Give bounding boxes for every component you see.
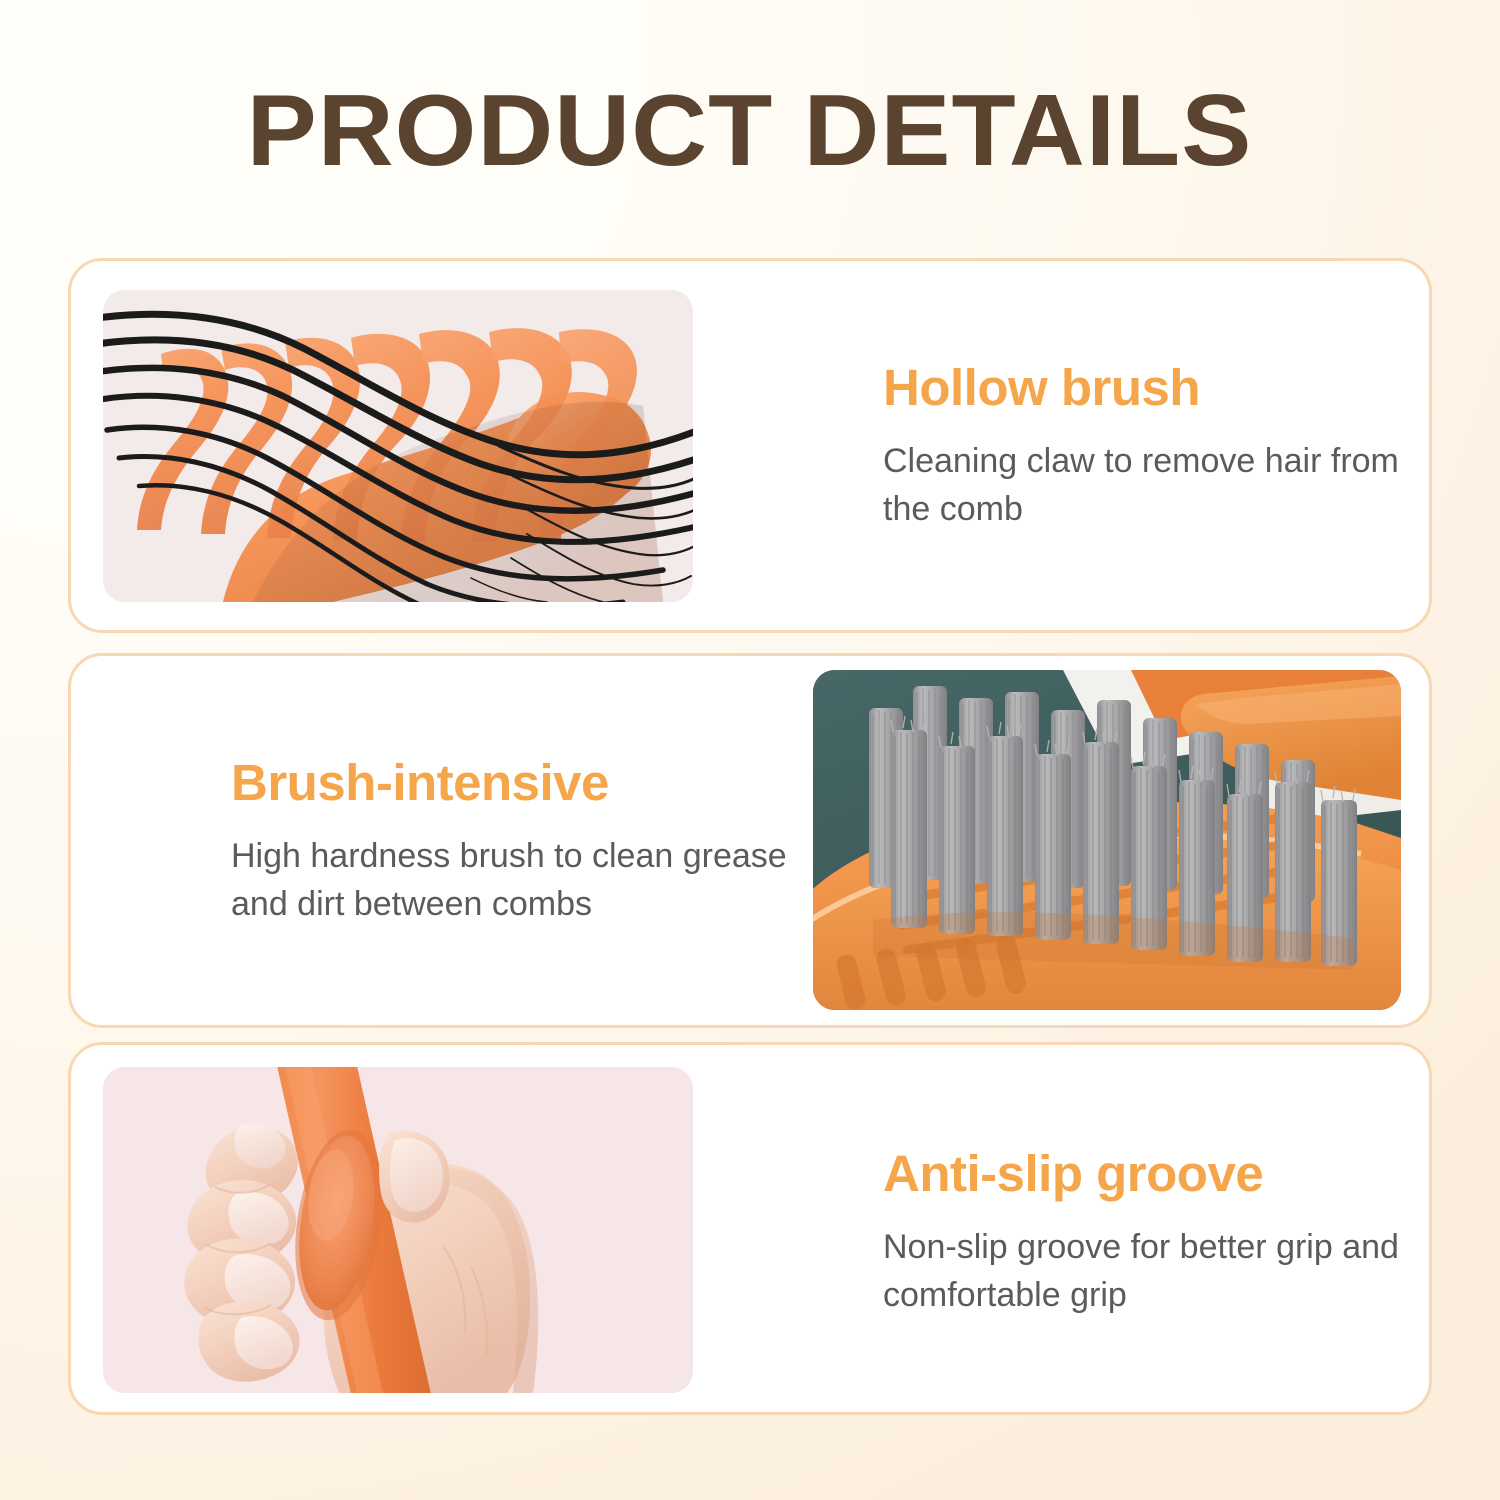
feature-text-hollow-brush: Hollow brush Cleaning claw to remove hai… [883, 361, 1423, 533]
feature-card-inner: Brush-intensive High hardness brush to c… [71, 656, 1429, 1025]
feature-title: Hollow brush [883, 361, 1423, 415]
feature-title: Anti-slip groove [883, 1147, 1423, 1201]
product-details-infographic: PRODUCT DETAILS [0, 0, 1500, 1500]
feature-text-anti-slip-groove: Anti-slip groove Non-slip groove for bet… [883, 1147, 1423, 1319]
feature-card-inner: Hollow brush Cleaning claw to remove hai… [71, 261, 1429, 630]
feature-image-brush-intensive [813, 670, 1401, 1010]
feature-title: Brush-intensive [231, 756, 841, 810]
feature-image-anti-slip-groove [103, 1067, 693, 1393]
hand-grip-illustration [103, 1067, 693, 1393]
feature-description: High hardness brush to clean grease and … [231, 832, 841, 929]
hollow-claw-illustration [103, 290, 693, 602]
brush-bristles-illustration [813, 670, 1401, 1010]
feature-card-brush-intensive: Brush-intensive High hardness brush to c… [68, 653, 1432, 1028]
page-title: PRODUCT DETAILS [247, 78, 1253, 184]
feature-image-hollow-brush [103, 290, 693, 602]
page-title-container: PRODUCT DETAILS [0, 78, 1500, 184]
feature-card-hollow-brush: Hollow brush Cleaning claw to remove hai… [68, 258, 1432, 633]
feature-text-brush-intensive: Brush-intensive High hardness brush to c… [231, 756, 841, 928]
feature-description: Cleaning claw to remove hair from the co… [883, 437, 1423, 534]
feature-card-anti-slip-groove: Anti-slip groove Non-slip groove for bet… [68, 1042, 1432, 1415]
feature-description: Non-slip groove for better grip and comf… [883, 1223, 1423, 1320]
feature-card-inner: Anti-slip groove Non-slip groove for bet… [71, 1045, 1429, 1412]
